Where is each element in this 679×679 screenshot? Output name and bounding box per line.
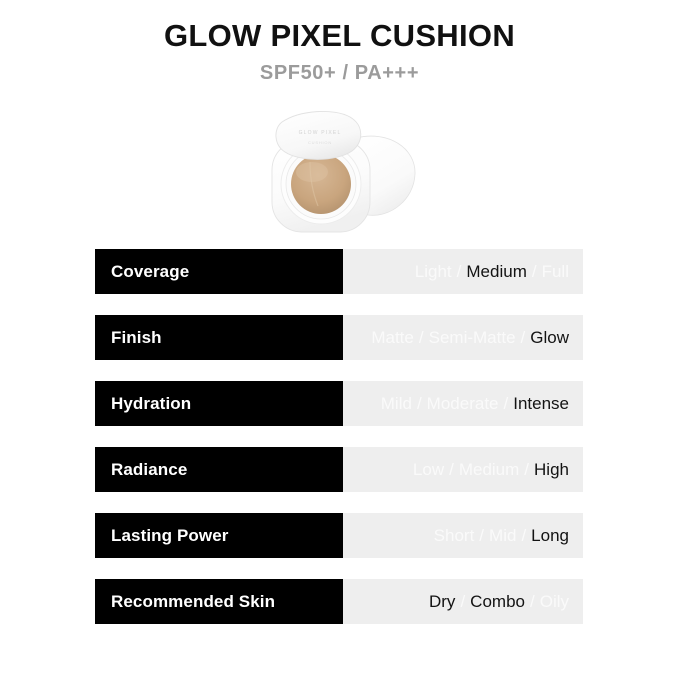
spec-row: Lasting PowerShort/Mid/Long [95, 513, 583, 558]
spec-row: RadianceLow/Medium/High [95, 447, 583, 492]
spec-label: Coverage [95, 249, 343, 294]
spec-option-inactive: Medium [459, 460, 519, 480]
spec-option-inactive: Low [413, 460, 444, 480]
spec-row: HydrationMild/Moderate/Intense [95, 381, 583, 426]
option-separator: / [452, 262, 467, 282]
spec-option-active: Medium [466, 262, 526, 282]
spec-option-active: Long [531, 526, 569, 546]
spec-option-inactive: Oily [540, 592, 569, 612]
spec-row: FinishMatte/Semi-Matte/Glow [95, 315, 583, 360]
option-separator: / [414, 328, 429, 348]
header: GLOW PIXEL CUSHION SPF50+ / PA+++ [0, 18, 679, 85]
svg-text:GLOW PIXEL: GLOW PIXEL [299, 130, 342, 136]
spec-label: Recommended Skin [95, 579, 343, 624]
option-separator: / [516, 526, 531, 546]
spec-option-active: Dry [429, 592, 455, 612]
spec-label: Radiance [95, 447, 343, 492]
spec-values: Short/Mid/Long [343, 513, 583, 558]
spec-option-inactive: Mild [381, 394, 412, 414]
option-separator: / [474, 526, 489, 546]
spec-values: Mild/Moderate/Intense [343, 381, 583, 426]
spec-option-inactive: Short [434, 526, 475, 546]
spec-option-inactive: Moderate [427, 394, 499, 414]
spec-option-inactive: Light [415, 262, 452, 282]
spec-option-active: Intense [513, 394, 569, 414]
option-separator: / [519, 460, 534, 480]
cushion-compact-illustration: GLOW PIXEL CUSHION [248, 104, 433, 234]
product-image: GLOW PIXEL CUSHION [248, 104, 433, 234]
option-separator: / [455, 592, 470, 612]
spec-table: CoverageLight/Medium/FullFinishMatte/Sem… [95, 249, 583, 624]
spec-option-inactive: Full [542, 262, 569, 282]
svg-text:CUSHION: CUSHION [308, 140, 332, 145]
spec-option-active: Combo [470, 592, 525, 612]
product-infographic: GLOW PIXEL CUSHION SPF50+ / PA+++ [0, 0, 679, 679]
option-separator: / [527, 262, 542, 282]
spec-option-inactive: Semi-Matte [429, 328, 516, 348]
option-separator: / [444, 460, 459, 480]
spec-option-active: High [534, 460, 569, 480]
page-title: GLOW PIXEL CUSHION [0, 18, 679, 54]
spec-row: Recommended SkinDry/Combo/Oily [95, 579, 583, 624]
option-separator: / [499, 394, 514, 414]
product-subtitle: SPF50+ / PA+++ [0, 62, 679, 85]
spec-option-inactive: Matte [371, 328, 414, 348]
compact-lid: GLOW PIXEL CUSHION [276, 111, 361, 159]
cushion-foundation [291, 154, 351, 214]
spec-values: Dry/Combo/Oily [343, 579, 583, 624]
spec-label: Hydration [95, 381, 343, 426]
spec-label: Lasting Power [95, 513, 343, 558]
spec-values: Low/Medium/High [343, 447, 583, 492]
spec-values: Matte/Semi-Matte/Glow [343, 315, 583, 360]
option-separator: / [412, 394, 427, 414]
spec-option-active: Glow [530, 328, 569, 348]
option-separator: / [525, 592, 540, 612]
option-separator: / [516, 328, 531, 348]
spec-row: CoverageLight/Medium/Full [95, 249, 583, 294]
spec-values: Light/Medium/Full [343, 249, 583, 294]
spec-label: Finish [95, 315, 343, 360]
spec-option-inactive: Mid [489, 526, 516, 546]
